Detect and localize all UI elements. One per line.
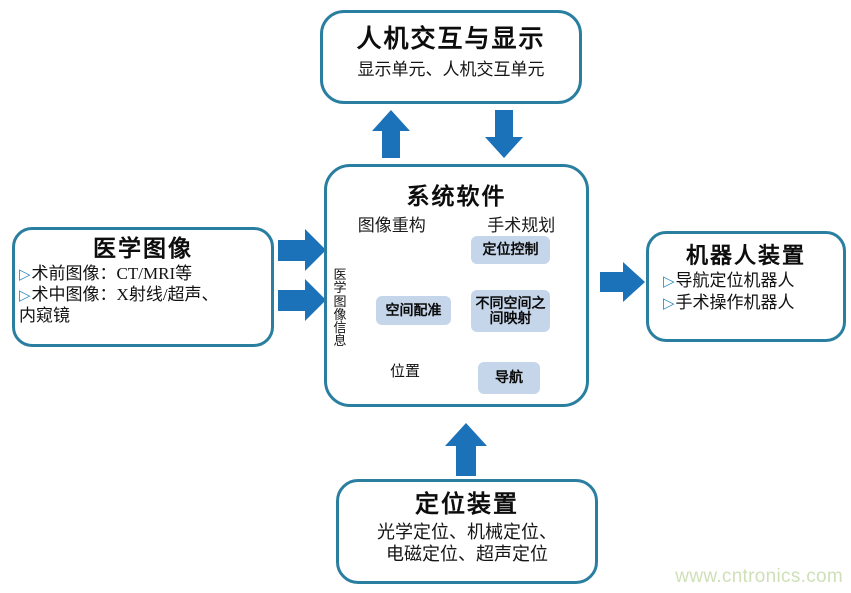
- position-label: 位置: [390, 360, 420, 381]
- robot-device-bullets: ▷导航定位机器人 ▷手术操作机器人: [663, 270, 843, 314]
- chip-spatial-registration[interactable]: 空间配准: [376, 296, 451, 325]
- chip-navigation[interactable]: 导航: [478, 362, 540, 394]
- arrow-sys-to-hmi: [372, 110, 410, 158]
- triangle-bullet-icon: ▷: [19, 288, 31, 304]
- chip-space-mapping[interactable]: 不同空间之间映射: [471, 290, 550, 332]
- medical-image-bullet-2: 术中图像：X射线/超声、: [32, 285, 219, 304]
- medical-image-bullets: ▷术前图像：CT/MRI等 ▷术中图像：X射线/超声、 内窥镜: [19, 264, 271, 326]
- node-system-software[interactable]: 系统软件 图像重构 手术规划: [324, 164, 589, 407]
- medical-image-title: 医学图像: [15, 236, 271, 261]
- watermark: www.cntronics.com: [675, 566, 843, 588]
- hmi-title: 人机交互与显示: [323, 26, 579, 54]
- arrow-hmi-to-sys: [485, 110, 523, 158]
- node-locator-device[interactable]: 定位装置 光学定位、机械定位、 电磁定位、超声定位: [336, 479, 598, 584]
- robot-device-title: 机器人装置: [649, 244, 843, 268]
- arrow-locator-to-sys: [445, 423, 487, 476]
- chip-positioning-control[interactable]: 定位控制: [471, 236, 550, 264]
- node-medical-image[interactable]: 医学图像 ▷术前图像：CT/MRI等 ▷术中图像：X射线/超声、 内窥镜: [12, 227, 274, 347]
- medical-image-bullet-1: 术前图像：CT/MRI等: [32, 264, 193, 283]
- arrow-image-to-sys-lower: [278, 279, 326, 321]
- robot-device-bullet-1: 导航定位机器人: [676, 271, 795, 290]
- triangle-bullet-icon: ▷: [663, 296, 675, 312]
- column-header-image-reconstruction: 图像重构: [358, 211, 426, 236]
- locator-device-subtitle-2: 电磁定位、超声定位: [339, 544, 595, 566]
- triangle-bullet-icon: ▷: [19, 267, 31, 283]
- robot-device-bullet-2: 手术操作机器人: [676, 293, 795, 312]
- column-header-surgical-planning: 手术规划: [487, 211, 555, 236]
- list-item: ▷手术操作机器人: [663, 292, 843, 314]
- list-item: ▷导航定位机器人: [663, 270, 843, 292]
- triangle-bullet-icon: ▷: [663, 274, 675, 290]
- locator-device-subtitle-1: 光学定位、机械定位、: [339, 522, 595, 544]
- list-item: ▷术前图像：CT/MRI等: [19, 264, 271, 285]
- system-software-columns: 图像重构 手术规划: [327, 211, 586, 236]
- system-software-title: 系统软件: [327, 177, 586, 211]
- arrow-image-to-sys-upper: [278, 229, 326, 271]
- list-item: ▷术中图像：X射线/超声、: [19, 285, 271, 306]
- arrow-sys-to-robot: [600, 262, 645, 302]
- medical-image-bullet-3: 内窥镜: [19, 306, 70, 325]
- hmi-subtitle: 显示单元、人机交互单元: [323, 60, 579, 80]
- node-robot-device[interactable]: 机器人装置 ▷导航定位机器人 ▷手术操作机器人: [646, 231, 846, 342]
- system-software-side-label: 医学图像信息: [331, 268, 349, 348]
- diagram-canvas: 人机交互与显示 显示单元、人机交互单元 医学图像 ▷术前图像：CT/MRI等 ▷…: [0, 0, 851, 593]
- list-item: 内窥镜: [19, 306, 271, 327]
- locator-device-title: 定位装置: [339, 492, 595, 518]
- node-human-machine-interaction[interactable]: 人机交互与显示 显示单元、人机交互单元: [320, 10, 582, 104]
